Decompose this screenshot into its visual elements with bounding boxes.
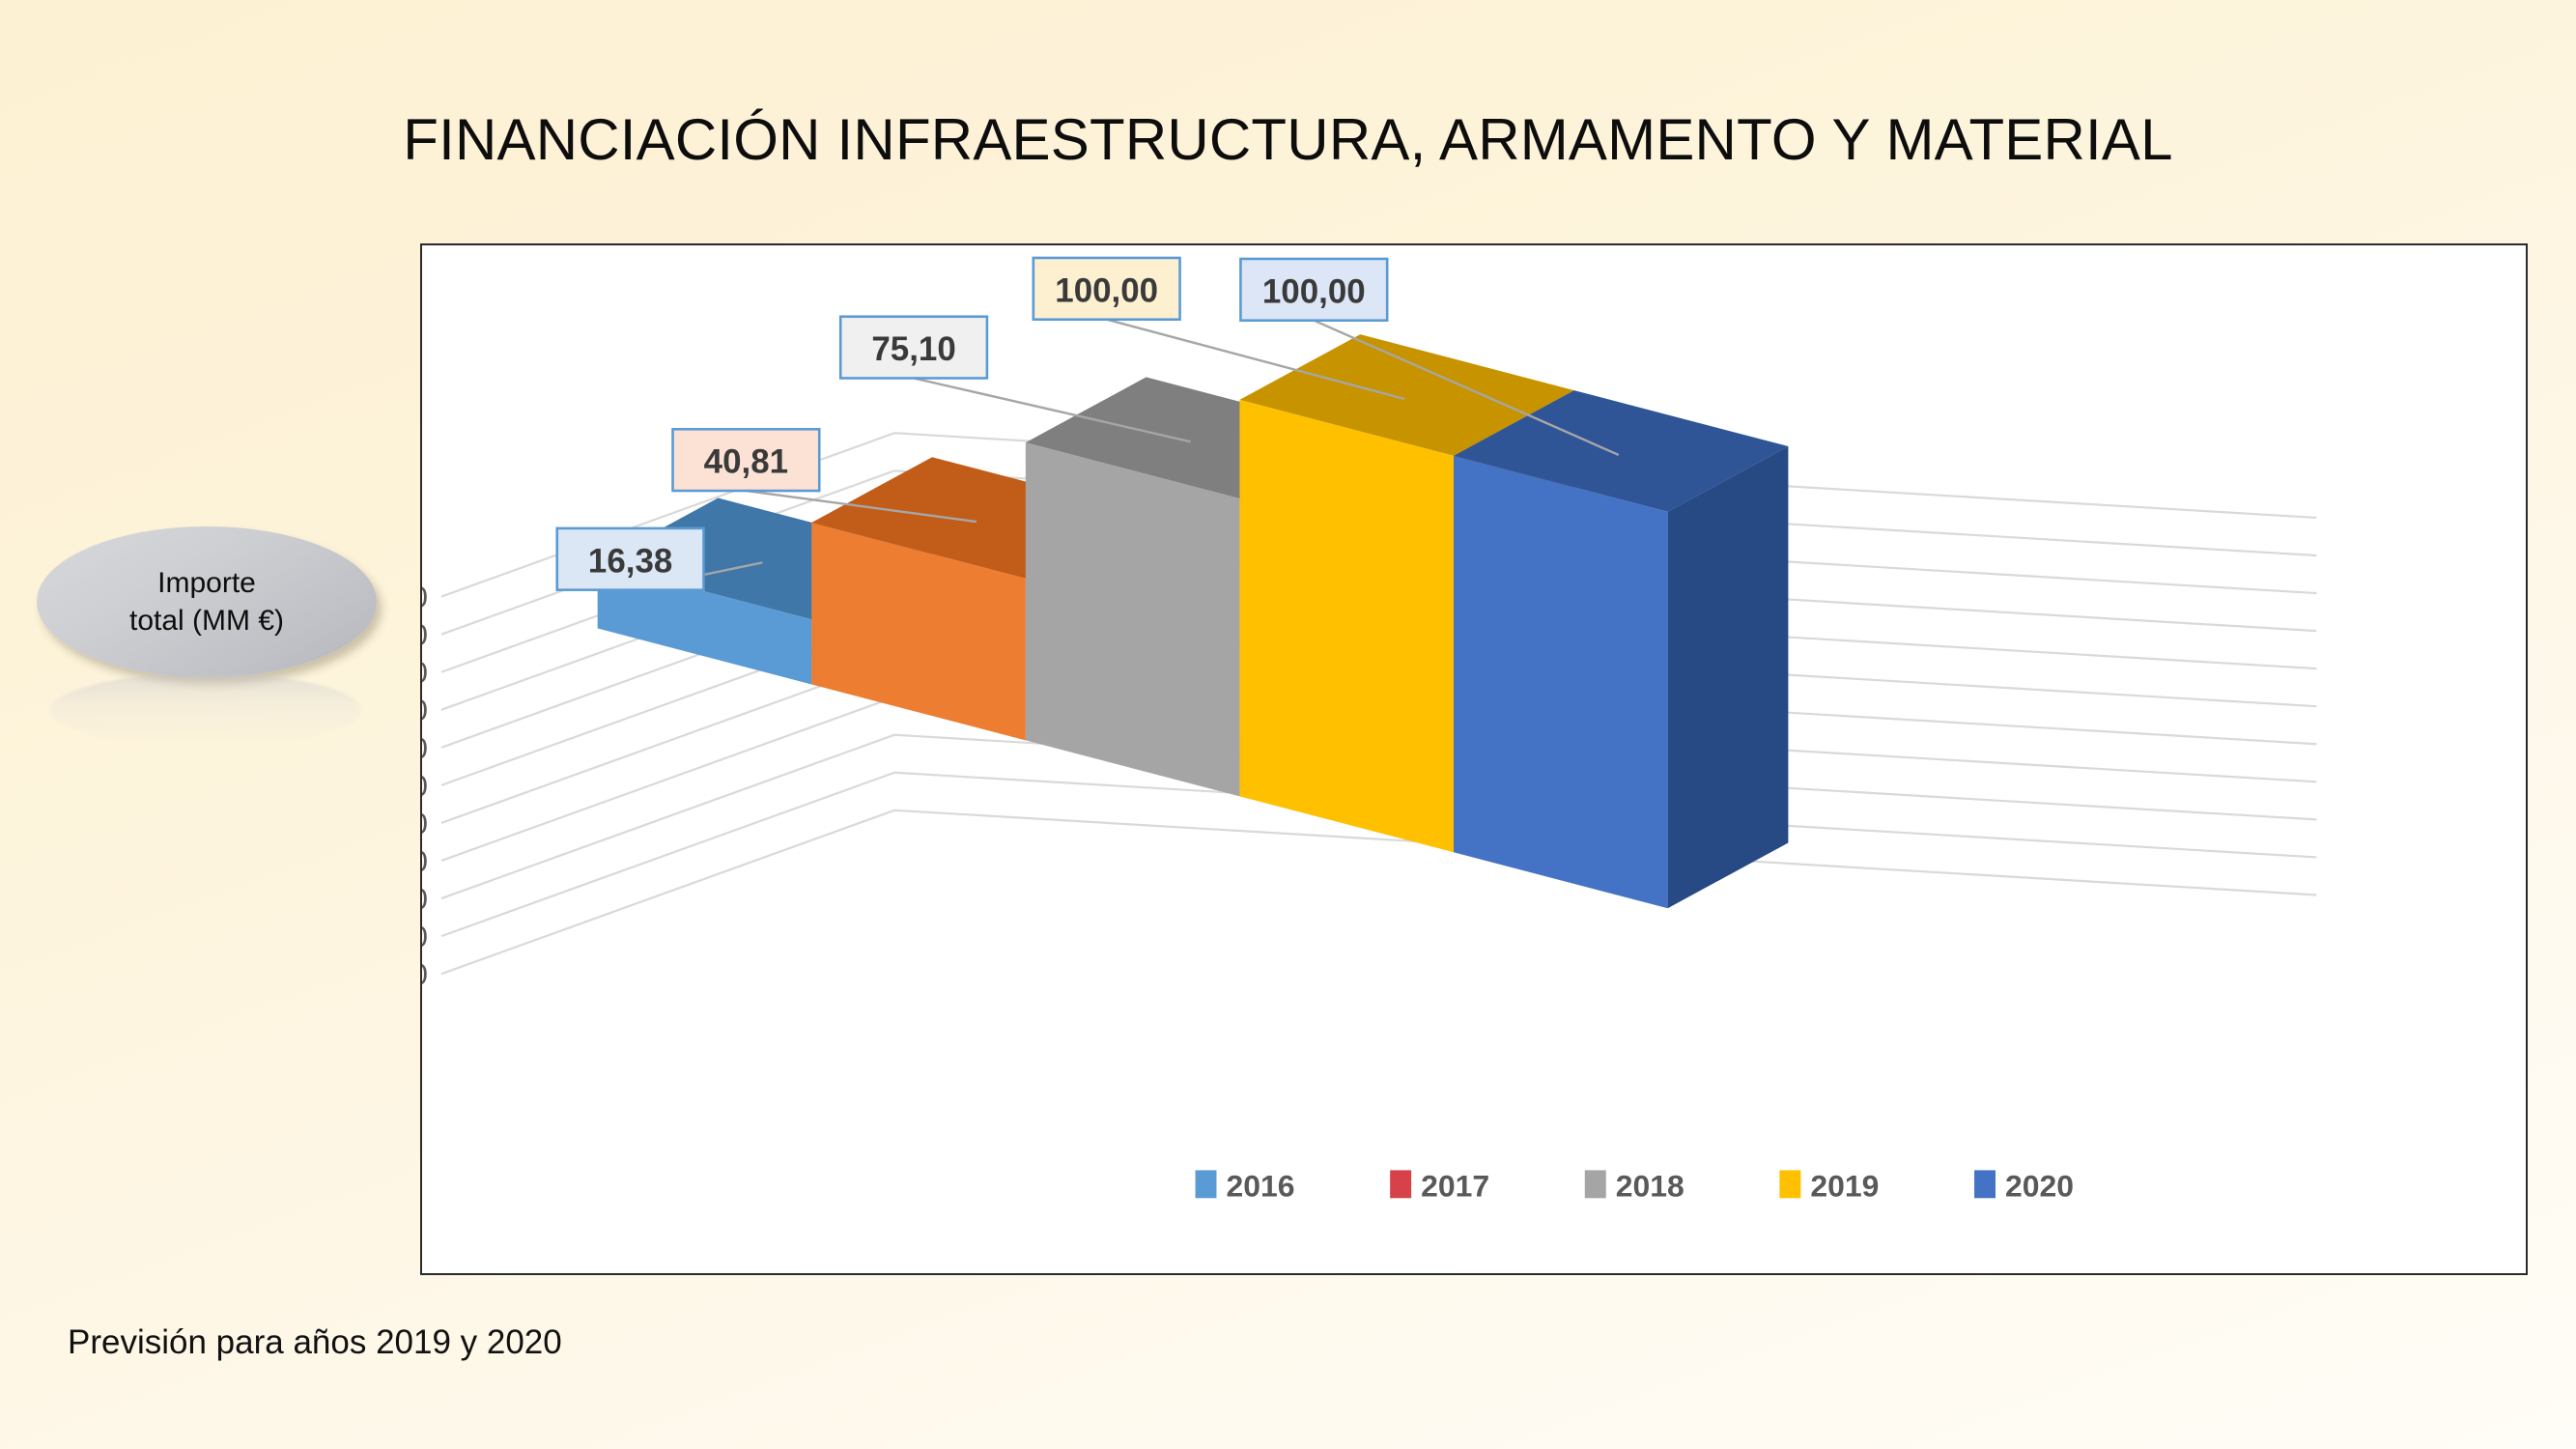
data-label-2019[interactable]: 100,00	[1033, 258, 1180, 320]
legend-swatch	[1974, 1170, 1996, 1198]
callout-shape[interactable]: Importe total (MM €)	[37, 526, 384, 749]
y-axis-tick-labels: 1009080706050403020100	[422, 581, 428, 991]
y-axis-tick-label: 10	[422, 920, 428, 953]
y-axis-tick-label: 70	[422, 694, 428, 727]
y-axis-tick-label: 100	[422, 581, 428, 614]
legend-item-2020[interactable]: 2020	[1974, 1168, 2074, 1203]
bar-front-face[interactable]	[1454, 456, 1668, 908]
legend-swatch	[1585, 1170, 1606, 1198]
callout-oval[interactable]: Importe total (MM €)	[37, 526, 377, 677]
legend-swatch	[1390, 1170, 1411, 1198]
y-axis-tick-label: 60	[422, 731, 428, 765]
data-label-2020[interactable]: 100,00	[1240, 259, 1387, 321]
callout-label: Importe total (MM €)	[129, 564, 284, 639]
bar-2020[interactable]	[1454, 390, 1788, 908]
y-axis-tick-label: 40	[422, 807, 428, 840]
bars-group[interactable]	[598, 334, 1789, 908]
bar-chart-3d: 1009080706050403020100 16,3840,8175,1010…	[422, 245, 2526, 1273]
callout-reflection	[50, 673, 361, 747]
bar-side-face	[1668, 446, 1789, 908]
legend-swatch	[1196, 1170, 1217, 1198]
y-axis-tick-label: 80	[422, 656, 428, 690]
data-label-2018[interactable]: 75,10	[840, 317, 987, 379]
slide-canvas: FINANCIACIÓN INFRAESTRUCTURA, ARMAMENTO …	[0, 0, 2576, 1449]
legend-label: 2020	[2005, 1168, 2074, 1203]
y-axis-tick-label: 50	[422, 769, 428, 803]
y-axis-tick-label: 0	[422, 957, 428, 991]
page-title: FINANCIACIÓN INFRAESTRUCTURA, ARMAMENTO …	[0, 106, 2576, 173]
footer-note: Previsión para años 2019 y 2020	[68, 1323, 562, 1362]
y-axis-tick-label: 90	[422, 618, 428, 652]
bar-front-face[interactable]	[1239, 400, 1454, 852]
y-axis-tick-label: 30	[422, 844, 428, 878]
legend-item-2017[interactable]: 2017	[1390, 1168, 1489, 1203]
legend-label: 2019	[1810, 1168, 1879, 1203]
data-label-value: 100,00	[1262, 272, 1366, 310]
legend-label: 2016	[1226, 1168, 1294, 1203]
data-label-value: 75,10	[871, 330, 955, 368]
data-label-value: 40,81	[704, 443, 788, 481]
bar-front-face[interactable]	[1026, 442, 1240, 796]
legend-item-2016[interactable]: 2016	[1196, 1168, 1295, 1203]
y-axis-tick-label: 20	[422, 882, 428, 916]
chart-legend[interactable]: 20162017201820192020	[1196, 1168, 2075, 1203]
legend-item-2019[interactable]: 2019	[1779, 1168, 1879, 1203]
data-label-value: 100,00	[1055, 271, 1158, 309]
data-label-value: 16,38	[588, 542, 672, 580]
data-label-2016[interactable]: 16,38	[557, 528, 704, 590]
data-label-2017[interactable]: 40,81	[673, 429, 820, 491]
legend-label: 2017	[1421, 1168, 1489, 1203]
legend-swatch	[1779, 1170, 1800, 1198]
chart-container[interactable]: 1009080706050403020100 16,3840,8175,1010…	[420, 243, 2528, 1275]
legend-label: 2018	[1616, 1168, 1684, 1203]
legend-item-2018[interactable]: 2018	[1585, 1168, 1684, 1203]
